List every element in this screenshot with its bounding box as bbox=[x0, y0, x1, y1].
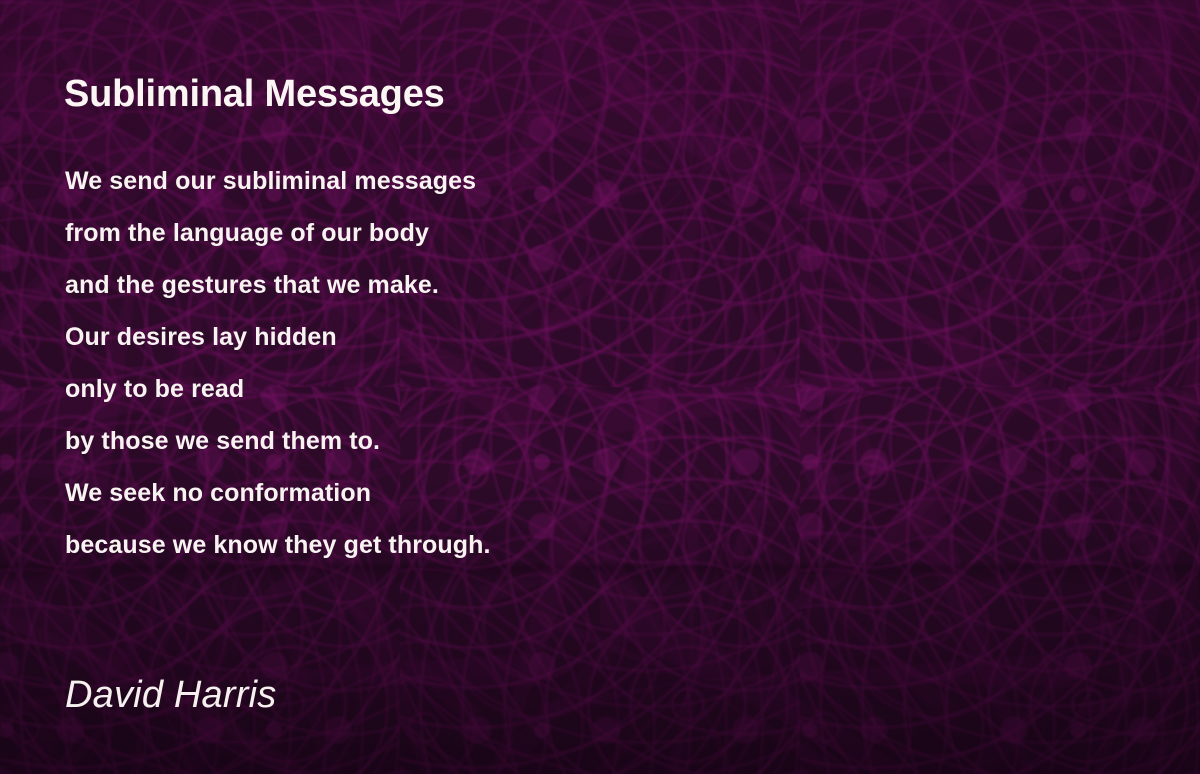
poem-body: We send our subliminal messages from the… bbox=[65, 155, 905, 571]
poem-content: Subliminal Messages We send our sublimin… bbox=[0, 0, 1200, 774]
poem-line: and the gestures that we make. bbox=[65, 259, 905, 311]
poem-line: only to be read bbox=[65, 363, 905, 415]
poem-line: We seek no conformation bbox=[65, 467, 905, 519]
poem-line: We send our subliminal messages bbox=[65, 155, 905, 207]
poem-line: from the language of our body bbox=[65, 207, 905, 259]
page-title: Subliminal Messages bbox=[64, 73, 445, 116]
poem-card: Subliminal Messages We send our sublimin… bbox=[0, 0, 1200, 774]
poem-line: because we know they get through. bbox=[65, 519, 905, 571]
author-name: David Harris bbox=[65, 674, 276, 717]
poem-line: by those we send them to. bbox=[65, 415, 905, 467]
poem-line: Our desires lay hidden bbox=[65, 311, 905, 363]
